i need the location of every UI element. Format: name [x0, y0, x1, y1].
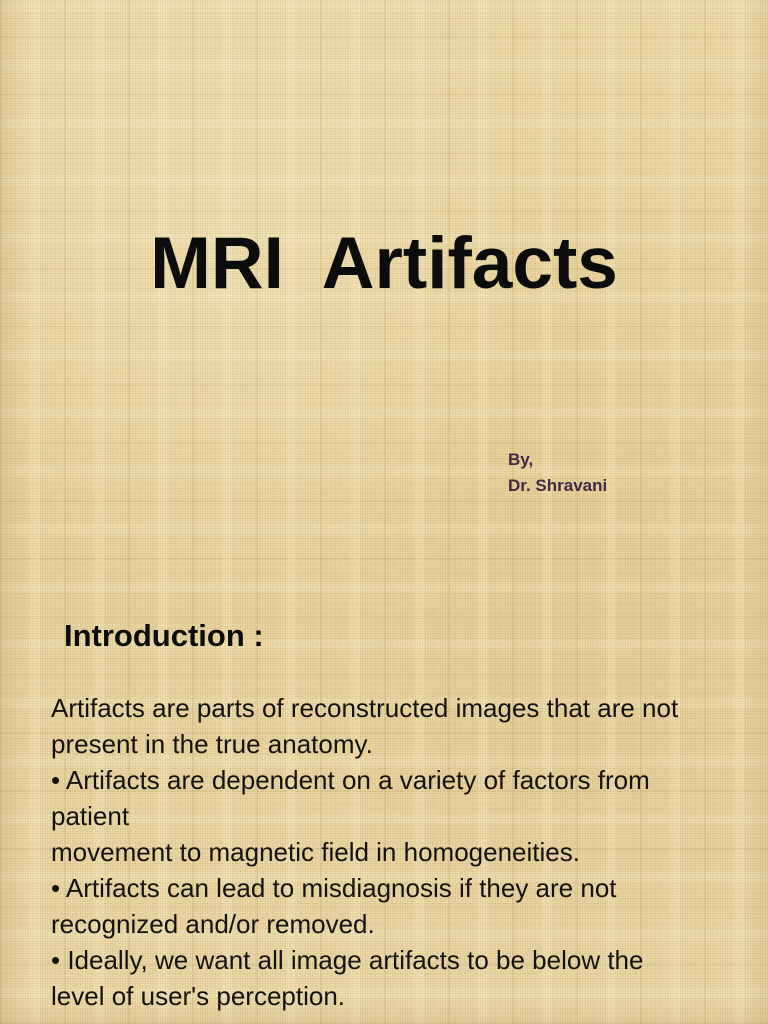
body-line: present in the true anatomy.: [51, 726, 741, 762]
page-title: MRI Artifacts: [0, 226, 768, 303]
body-line: patient: [51, 798, 741, 834]
body-line: Artifacts are parts of reconstructed ima…: [51, 690, 741, 726]
body-text-block: Artifacts are parts of reconstructed ima…: [51, 690, 741, 1014]
body-line-bullet: • Artifacts can lead to misdiagnosis if …: [51, 870, 741, 906]
body-line: movement to magnetic field in homogeneit…: [51, 834, 741, 870]
body-line-bullet: • Artifacts are dependent on a variety o…: [51, 762, 741, 798]
body-line: recognized and/or removed.: [51, 906, 741, 942]
body-line: level of user's perception.: [51, 978, 741, 1014]
section-heading-introduction: Introduction :: [64, 618, 264, 654]
byline-label: By,: [508, 447, 607, 473]
presentation-slide: MRI Artifacts By, Dr. Shravani Introduct…: [0, 0, 768, 1024]
body-line-bullet: • Ideally, we want all image artifacts t…: [51, 942, 741, 978]
byline-block: By, Dr. Shravani: [508, 447, 607, 499]
byline-author: Dr. Shravani: [508, 473, 607, 499]
